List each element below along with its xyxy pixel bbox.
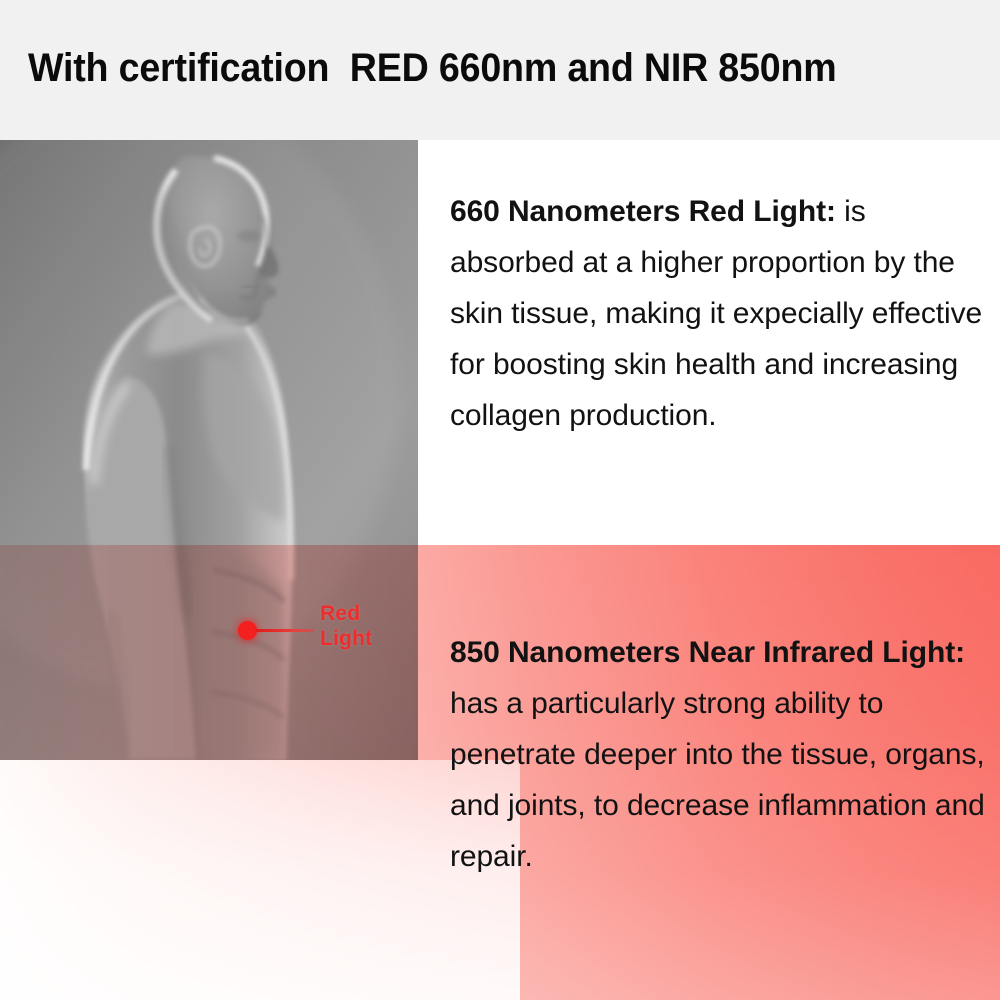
red-light-heading: 660 Nanometers Red Light: [450, 195, 836, 228]
red-light-leader-line [256, 629, 314, 632]
near-infrared-heading: 850 Nanometers Near Infrared Light: [450, 636, 965, 669]
red-light-body: is absorbed at a higher proportion by th… [450, 195, 982, 432]
near-infrared-body: has a particularly strong ability to pen… [450, 687, 985, 873]
header-band: With certification RED 660nm and NIR 850… [0, 0, 1000, 140]
infographic-page: With certification RED 660nm and NIR 850… [0, 0, 1000, 1000]
red-light-marker-dot [238, 621, 257, 640]
near-infrared-description: 850 Nanometers Near Infrared Light: has … [450, 627, 990, 882]
page-title: With certification RED 660nm and NIR 850… [28, 44, 837, 92]
man-profile-silhouette-icon [0, 140, 418, 760]
pink-band-left-fade [0, 760, 520, 1000]
body-profile-photo: Red Light Near infrared Light [0, 140, 418, 760]
red-light-description: 660 Nanometers Red Light: is absorbed at… [450, 186, 990, 441]
red-light-callout-label: Red Light [320, 601, 372, 651]
